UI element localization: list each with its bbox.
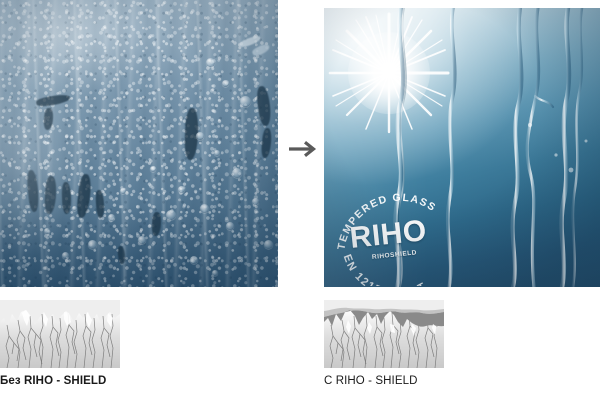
caption-with-shield: С RIHO - SHIELD [324,375,418,387]
photo-with-shield: TEMPERED GLASS EN 12150-1, ST RIHO RIHOS… [324,8,600,287]
water-droplet-group [0,0,278,287]
photo-without-shield [0,0,278,287]
diagram-with-shield [324,300,444,368]
arrow-right-icon [286,132,320,166]
caption-without-shield: Без RIHO - SHIELD [0,375,106,387]
diagram-without-shield [0,300,120,368]
water-rivulet-group [324,8,600,287]
comparison-figure: TEMPERED GLASS EN 12150-1, ST RIHO RIHOS… [0,0,600,400]
